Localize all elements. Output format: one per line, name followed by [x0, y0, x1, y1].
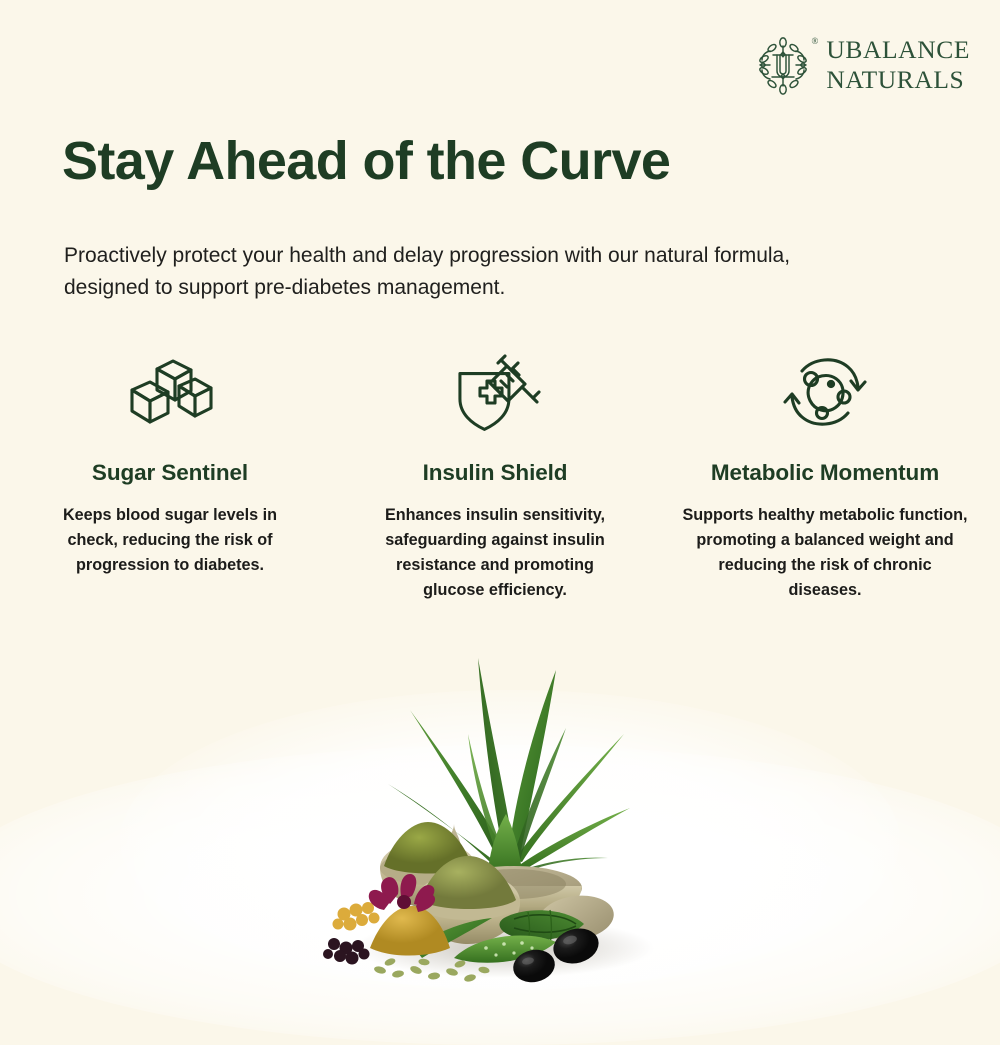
brand-logo: ® UBALANCE NATURALS — [751, 33, 970, 97]
brand-name-line2: NATURALS — [826, 65, 970, 95]
page-subtitle: Proactively protect your health and dela… — [64, 240, 864, 304]
feature-title: Metabolic Momentum — [711, 460, 939, 486]
herbal-ingredients-photo — [318, 618, 682, 990]
feature-title: Sugar Sentinel — [92, 460, 248, 486]
brand-name: UBALANCE NATURALS — [826, 35, 970, 94]
feature-description: Enhances insulin sensitivity, safeguardi… — [367, 503, 623, 603]
feature-list: Sugar Sentinel Keeps blood sugar levels … — [0, 352, 1000, 603]
brand-name-line1: UBALANCE — [826, 35, 970, 65]
feature-description: Keeps blood sugar levels in check, reduc… — [45, 503, 295, 578]
registered-trademark-icon: ® — [812, 36, 819, 46]
feature-item-insulin-shield: Insulin Shield Enhances insulin sensitiv… — [340, 352, 650, 603]
shield-syringe-icon — [449, 352, 541, 432]
feature-title: Insulin Shield — [423, 460, 568, 486]
sugar-cubes-icon — [127, 352, 213, 432]
feature-item-sugar-sentinel: Sugar Sentinel Keeps blood sugar levels … — [0, 352, 340, 578]
ubalance-monogram-icon: ® — [751, 33, 815, 97]
page-title: Stay Ahead of the Curve — [62, 130, 670, 192]
metabolism-cycle-icon — [780, 352, 870, 432]
feature-item-metabolic-momentum: Metabolic Momentum Supports healthy meta… — [650, 352, 1000, 603]
feature-description: Supports healthy metabolic function, pro… — [682, 503, 968, 603]
